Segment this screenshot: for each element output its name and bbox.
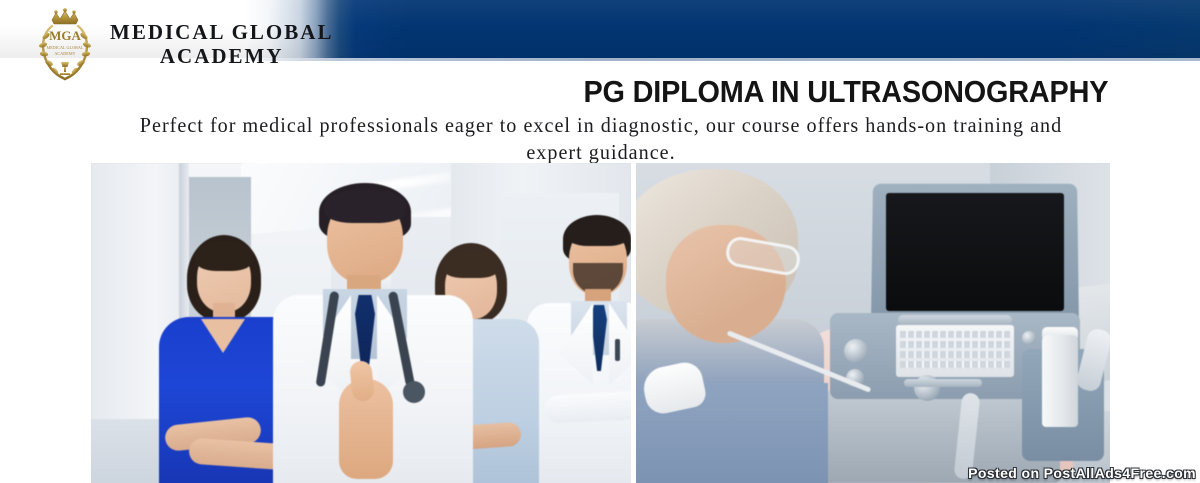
svg-text:MEDICAL GLOBAL: MEDICAL GLOBAL (47, 45, 84, 50)
photo-strip (91, 163, 1110, 483)
ultrasound-machine (818, 179, 1104, 483)
medical-team-photo (91, 163, 631, 483)
sonographer-figure (636, 169, 828, 483)
lead-doctor-thumbs-up-figure (267, 183, 477, 483)
brand-name-line2: ACADEMY (110, 45, 333, 69)
brand-name-line1: MEDICAL GLOBAL (110, 20, 333, 44)
advertisement-banner: MGA MEDICAL GLOBAL ACADEMY MEDICAL GLOBA… (0, 0, 1200, 483)
page-title: PG DIPLOMA IN ULTRASONOGRAPHY (583, 74, 1108, 110)
watermark-label: Posted on PostAllAds4Free.com (968, 465, 1196, 481)
svg-text:MGA: MGA (49, 28, 81, 43)
ultrasound-exam-photo (636, 163, 1110, 483)
brand-block: MGA MEDICAL GLOBAL ACADEMY MEDICAL GLOBA… (34, 6, 333, 84)
ultrasound-keyboard (896, 325, 1014, 377)
brand-name: MEDICAL GLOBAL ACADEMY (110, 21, 333, 68)
subtitle-text: Perfect for medical professionals eager … (116, 112, 1086, 166)
mga-crest-icon: MGA MEDICAL GLOBAL ACADEMY (34, 6, 96, 84)
ultrasound-display-screen (886, 193, 1064, 311)
svg-text:ACADEMY: ACADEMY (54, 51, 75, 56)
